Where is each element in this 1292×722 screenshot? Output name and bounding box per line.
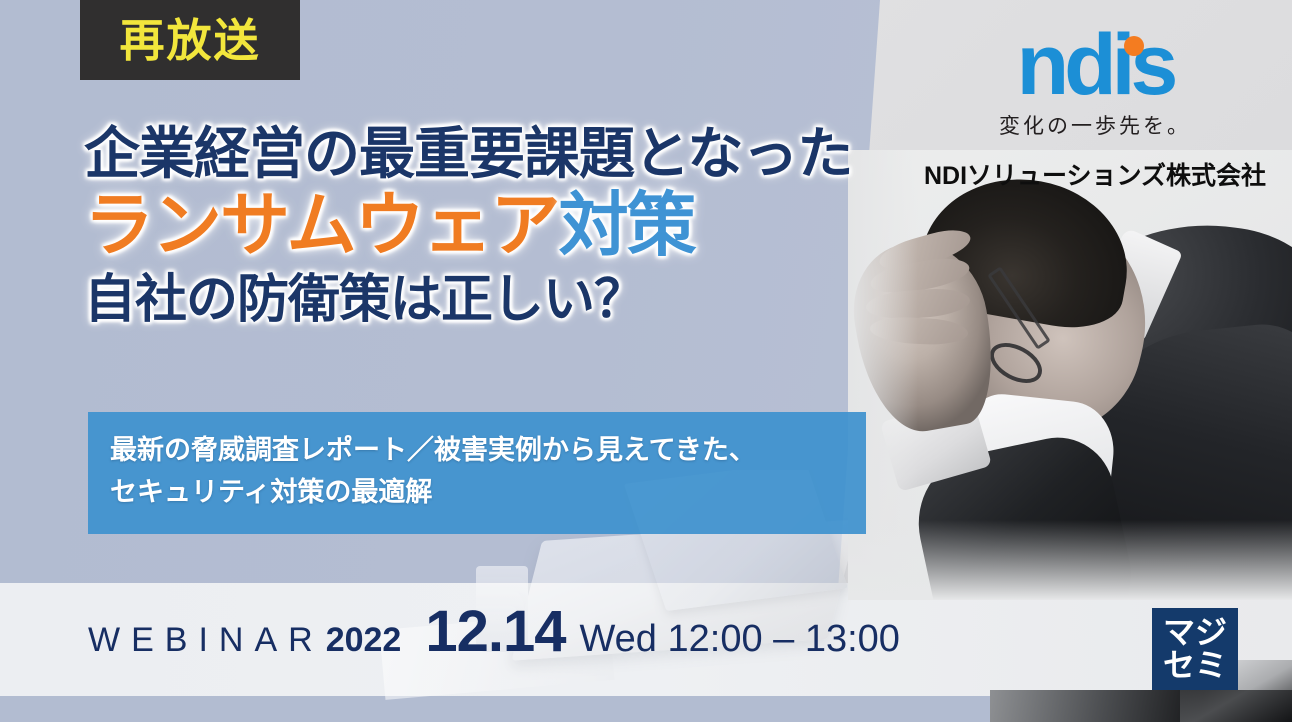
majisemi-line-1: マジ: [1163, 616, 1227, 649]
headline-line-2: ランサムウェア対策: [84, 190, 884, 260]
rebroadcast-badge-label: 再放送: [119, 18, 260, 63]
sponsor-logo-ndis: ndis 変化の一歩先を。 NDIソリューションズ株式会社: [905, 24, 1285, 192]
webinar-label: WEBINAR: [88, 621, 324, 660]
subtitle-box: 最新の脅威調査レポート／被害実例から見えてきた、 セキュリティ対策の最適解: [88, 412, 866, 534]
dateline: WEBINAR 2022 12.14 Wed 12:00 – 13:00: [88, 598, 900, 664]
stressed-businessman-photo: [848, 150, 1292, 600]
headline-keyword-ransomware: ランサムウェア: [84, 186, 559, 264]
ndis-orange-dot-icon: [1124, 36, 1144, 56]
rebroadcast-badge: 再放送: [80, 0, 300, 80]
webinar-year: 2022: [326, 621, 402, 660]
majisemi-line-2: セミ: [1163, 649, 1227, 682]
ndis-wordmark-text: ndis: [1017, 17, 1174, 113]
ndis-wordmark: ndis: [905, 24, 1285, 106]
headline-line-1: 企業経営の最重要課題となった: [84, 126, 884, 182]
host-logo-majisemi: マジ セミ: [1152, 608, 1238, 690]
webinar-time: Wed 12:00 – 13:00: [579, 618, 899, 661]
photo-bottom-fade: [848, 520, 1292, 600]
ndis-tagline: 変化の一歩先を。: [905, 110, 1285, 140]
headline-line-3: 自社の防衛策は正しい？: [84, 274, 884, 326]
subtitle-line-1: 最新の脅威調査レポート／被害実例から見えてきた、: [110, 430, 866, 472]
ndis-company-name: NDIソリューションズ株式会社: [905, 156, 1285, 192]
headline-keyword-countermeasure: 対策: [559, 186, 695, 264]
headline-block: 企業経営の最重要課題となった ランサムウェア対策 自社の防衛策は正しい？: [84, 126, 884, 326]
webinar-banner: 再放送 企業経営の最重要課題となった ランサムウェア対策 自社の防衛策は正しい？…: [0, 0, 1292, 722]
webinar-date: 12.14: [425, 598, 565, 665]
subtitle-line-2: セキュリティ対策の最適解: [110, 472, 866, 514]
